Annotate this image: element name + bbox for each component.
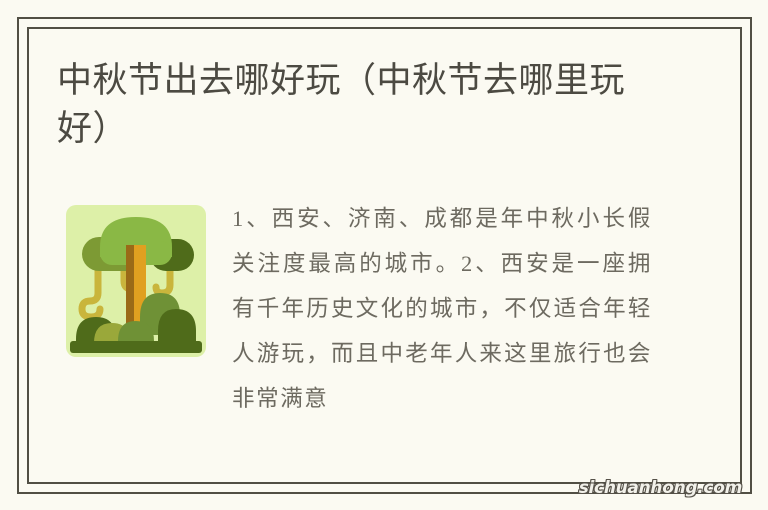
article-card: 中秋节出去哪好玩（中秋节去哪里玩好）	[0, 0, 768, 510]
tree-illustration	[66, 205, 206, 357]
site-watermark: sichuanhong.com	[579, 478, 742, 498]
article-body-section: 1、西安、济南、成都是年中秋小长假关注度最高的城市。2、西安是一座拥有千年历史文…	[57, 196, 678, 450]
page-title: 中秋节出去哪好玩（中秋节去哪里玩好）	[57, 57, 657, 153]
article-paragraph: 1、西安、济南、成都是年中秋小长假关注度最高的城市。2、西安是一座拥有千年历史文…	[232, 196, 652, 421]
tree-icon	[66, 205, 206, 357]
